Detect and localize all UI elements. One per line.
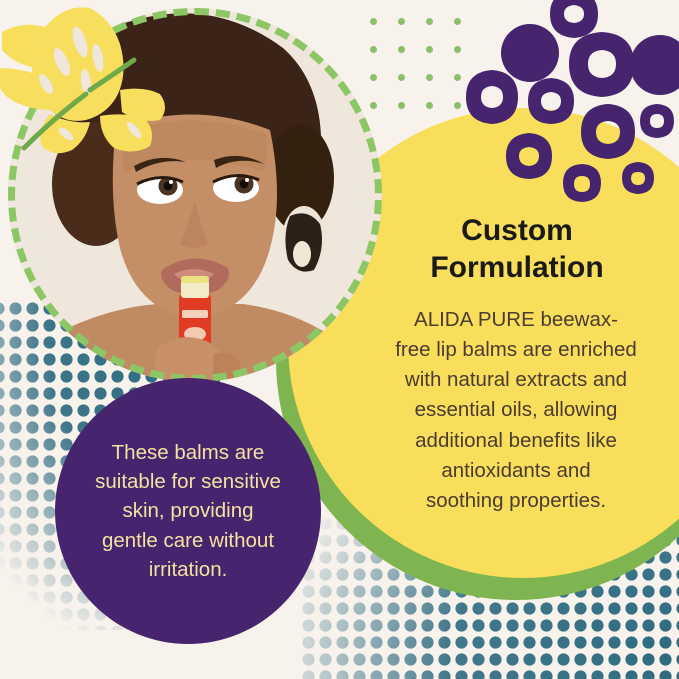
grid-dot — [398, 102, 405, 109]
grid-dot — [426, 74, 433, 81]
grid-dot — [426, 18, 433, 25]
purple-callout-circle: These balms are suitable for sensitive s… — [55, 378, 321, 644]
grid-dot — [370, 74, 377, 81]
grid-dot — [370, 102, 377, 109]
purple-dot-icon — [630, 35, 679, 95]
grid-dot — [454, 74, 461, 81]
green-dot-grid — [370, 18, 482, 130]
purple-ring-icon — [569, 32, 634, 97]
body-paragraph: ALIDA PURE beewax- free lip balms are en… — [362, 305, 670, 516]
grid-dot — [454, 102, 461, 109]
grid-dot — [454, 18, 461, 25]
grid-dot — [398, 46, 405, 53]
purple-ring-icon — [640, 104, 674, 138]
grid-dot — [370, 46, 377, 53]
page-title: Custom Formulation — [378, 213, 656, 286]
monstera-leaf-icon — [0, 0, 184, 158]
grid-dot — [398, 18, 405, 25]
poster-canvas: These balms are suitable for sensitive s… — [0, 0, 679, 679]
grid-dot — [426, 102, 433, 109]
grid-dot — [370, 18, 377, 25]
grid-dot — [426, 46, 433, 53]
purple-ring-icon — [550, 0, 598, 38]
grid-dot — [398, 74, 405, 81]
purple-callout-text: These balms are suitable for sensitive s… — [72, 438, 304, 584]
grid-dot — [454, 46, 461, 53]
purple-dot-icon — [501, 24, 559, 82]
